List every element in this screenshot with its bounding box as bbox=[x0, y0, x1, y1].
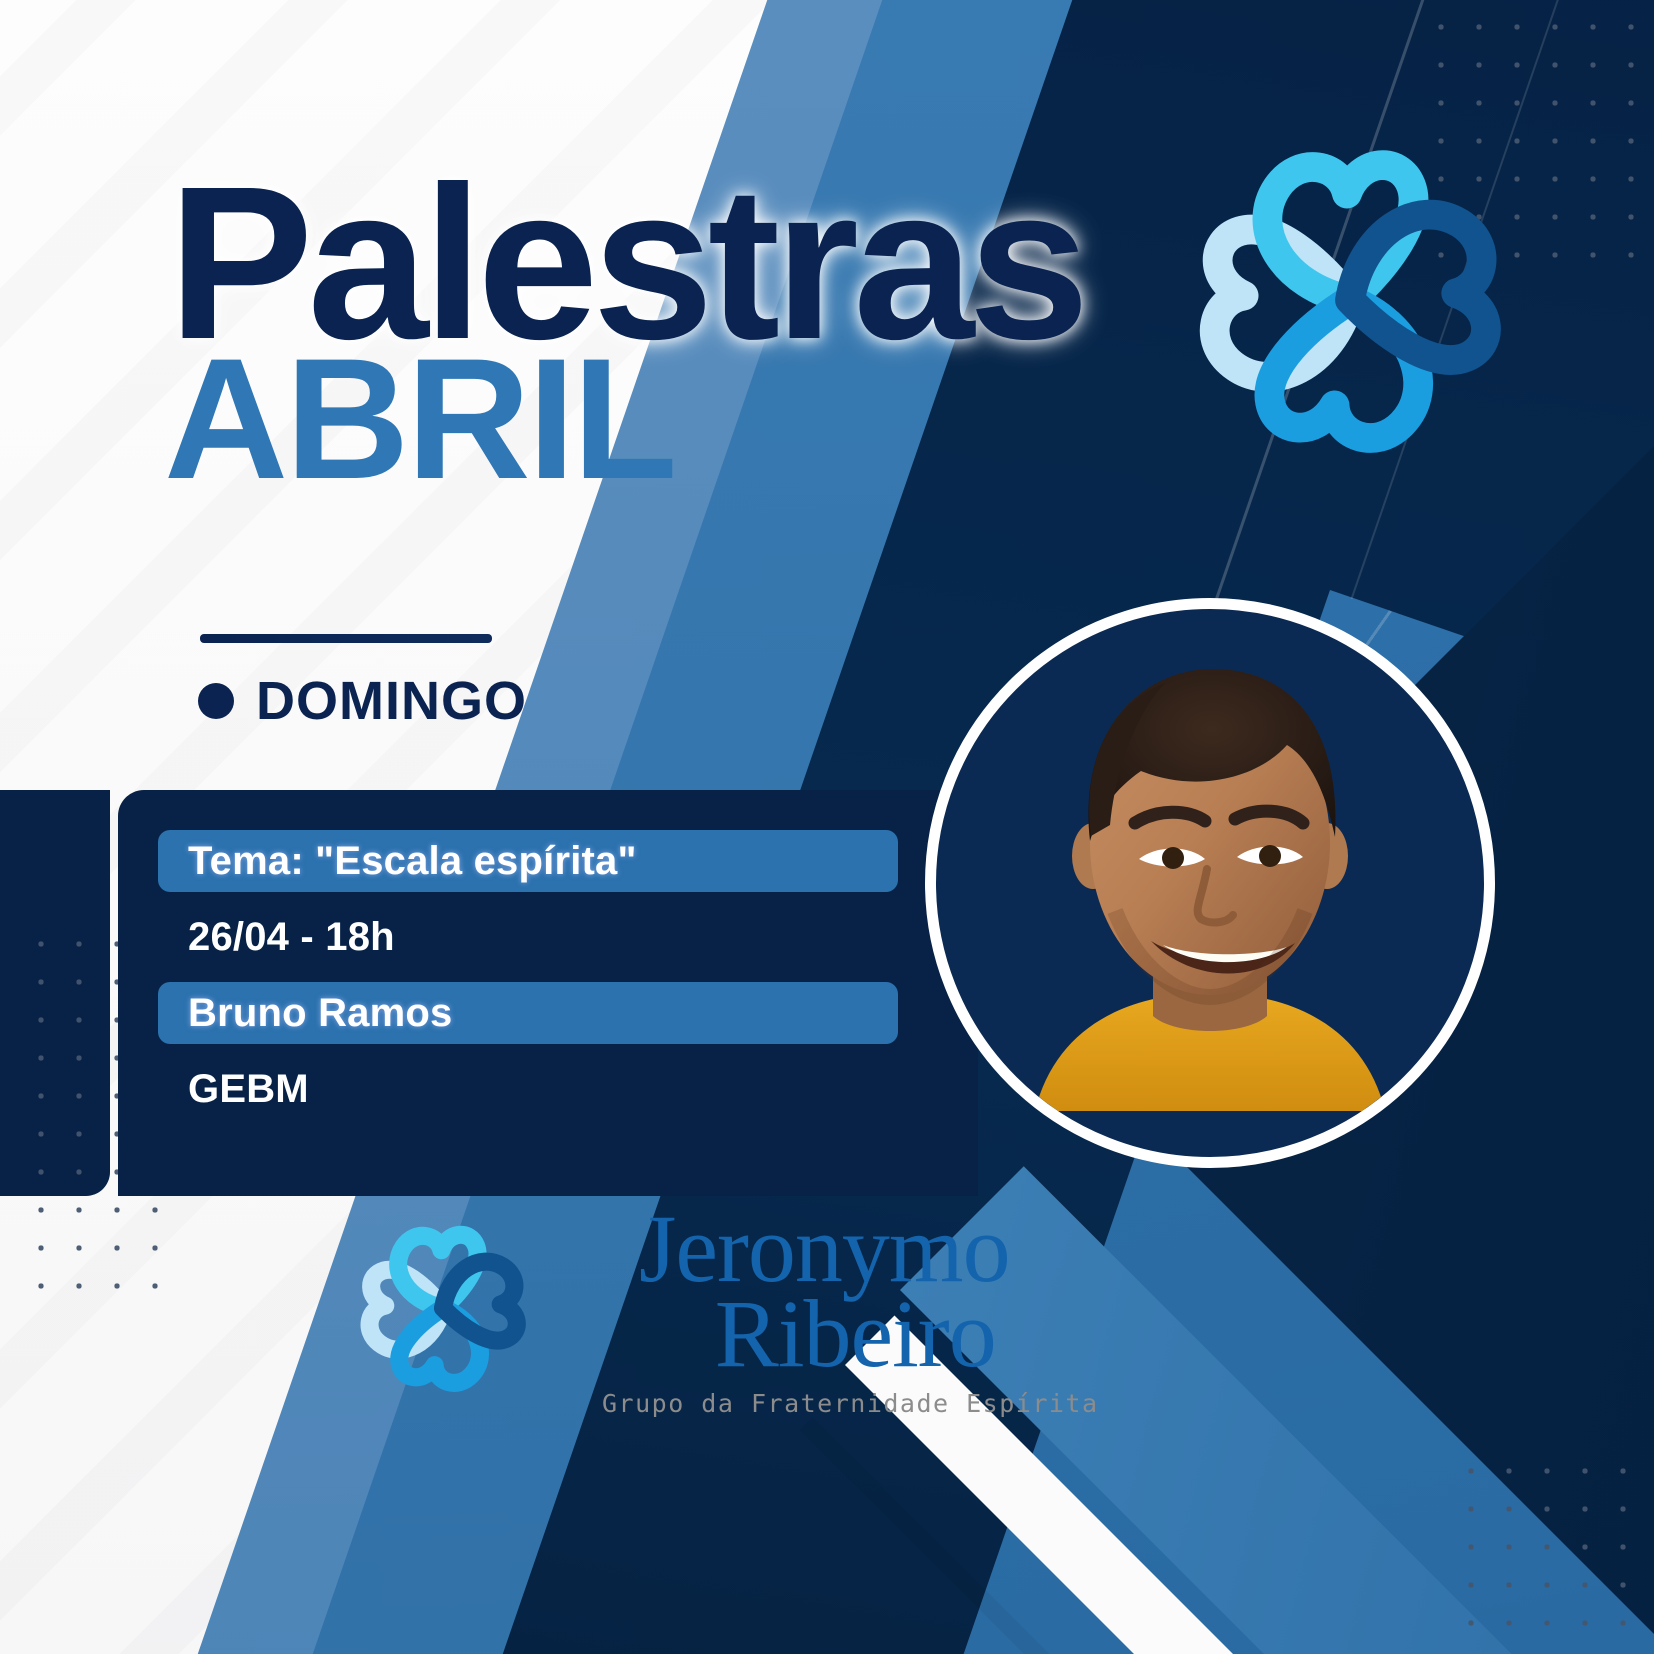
weekday-row: DOMINGO bbox=[198, 670, 527, 732]
info-row-theme: Tema: "Escala espírita" bbox=[158, 830, 898, 892]
speaker-portrait-icon bbox=[995, 611, 1425, 1111]
butterfly-logo-icon-watermark bbox=[1175, 125, 1525, 475]
avatar-image-clip bbox=[936, 609, 1484, 1157]
poster-canvas: Palestras ABRIL DOMINGO Tema: "Escala es… bbox=[0, 0, 1654, 1654]
divider-rule bbox=[200, 634, 492, 643]
brand-tagline: Grupo da Fraternidade Espírita bbox=[602, 1389, 1099, 1418]
weekday-label: DOMINGO bbox=[256, 670, 527, 732]
avatar bbox=[925, 598, 1495, 1168]
butterfly-logo-icon bbox=[348, 1213, 538, 1403]
bullet-dot-icon bbox=[198, 683, 234, 719]
info-row-org: GEBM bbox=[158, 1058, 898, 1120]
brand-logo: Jeronymo Ribeiro Grupo da Fraternidade E… bbox=[348, 1198, 1099, 1418]
headline-group: Palestras ABRIL bbox=[168, 168, 1084, 497]
info-row-speaker: Bruno Ramos bbox=[158, 982, 898, 1044]
brand-name-line1: Jeronymo bbox=[639, 1210, 1010, 1289]
dot-grid-icon-bottom-right bbox=[1452, 1452, 1654, 1654]
info-rows: Tema: "Escala espírita" 26/04 - 18h Brun… bbox=[158, 830, 898, 1134]
brand-name-line2: Ribeiro bbox=[715, 1295, 996, 1374]
info-row-datetime: 26/04 - 18h bbox=[158, 906, 898, 968]
brand-text: Jeronymo Ribeiro Grupo da Fraternidade E… bbox=[556, 1210, 1099, 1418]
